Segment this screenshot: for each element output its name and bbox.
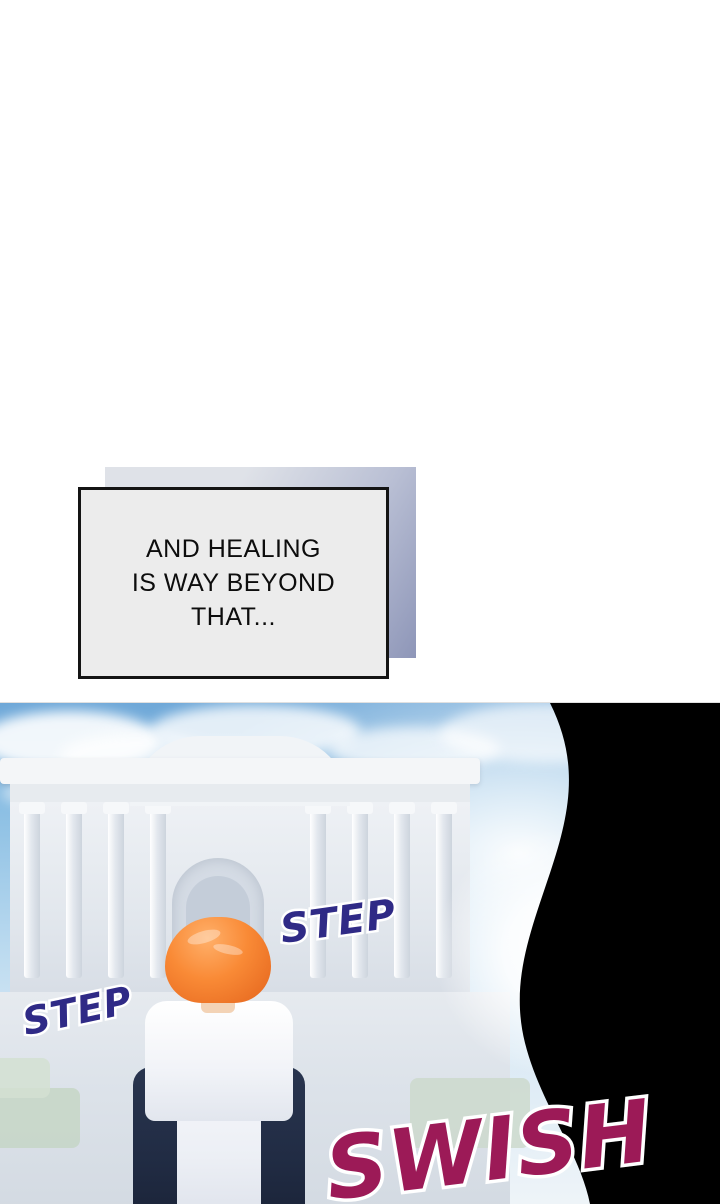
column xyxy=(394,808,410,978)
comic-page: AND HEALING IS WAY BEYOND THAT... xyxy=(0,0,720,1204)
column-capital xyxy=(19,802,45,814)
column xyxy=(352,808,368,978)
column-capital xyxy=(389,802,415,814)
palace-cornice xyxy=(10,784,470,802)
panel-top: AND HEALING IS WAY BEYOND THAT... xyxy=(0,0,720,703)
column-capital xyxy=(347,802,373,814)
speech-bubble-text: AND HEALING IS WAY BEYOND THAT... xyxy=(122,532,345,634)
column xyxy=(24,808,40,978)
column-capital xyxy=(61,802,87,814)
panel-bottom: STEP STEP SWISH xyxy=(0,703,720,1204)
nun-character xyxy=(105,917,335,1204)
column-capital xyxy=(103,802,129,814)
nun-veil xyxy=(145,1001,293,1121)
hedge xyxy=(0,1058,50,1098)
palace-roof xyxy=(0,758,480,784)
speech-bubble: AND HEALING IS WAY BEYOND THAT... xyxy=(78,487,389,679)
column xyxy=(66,808,82,978)
